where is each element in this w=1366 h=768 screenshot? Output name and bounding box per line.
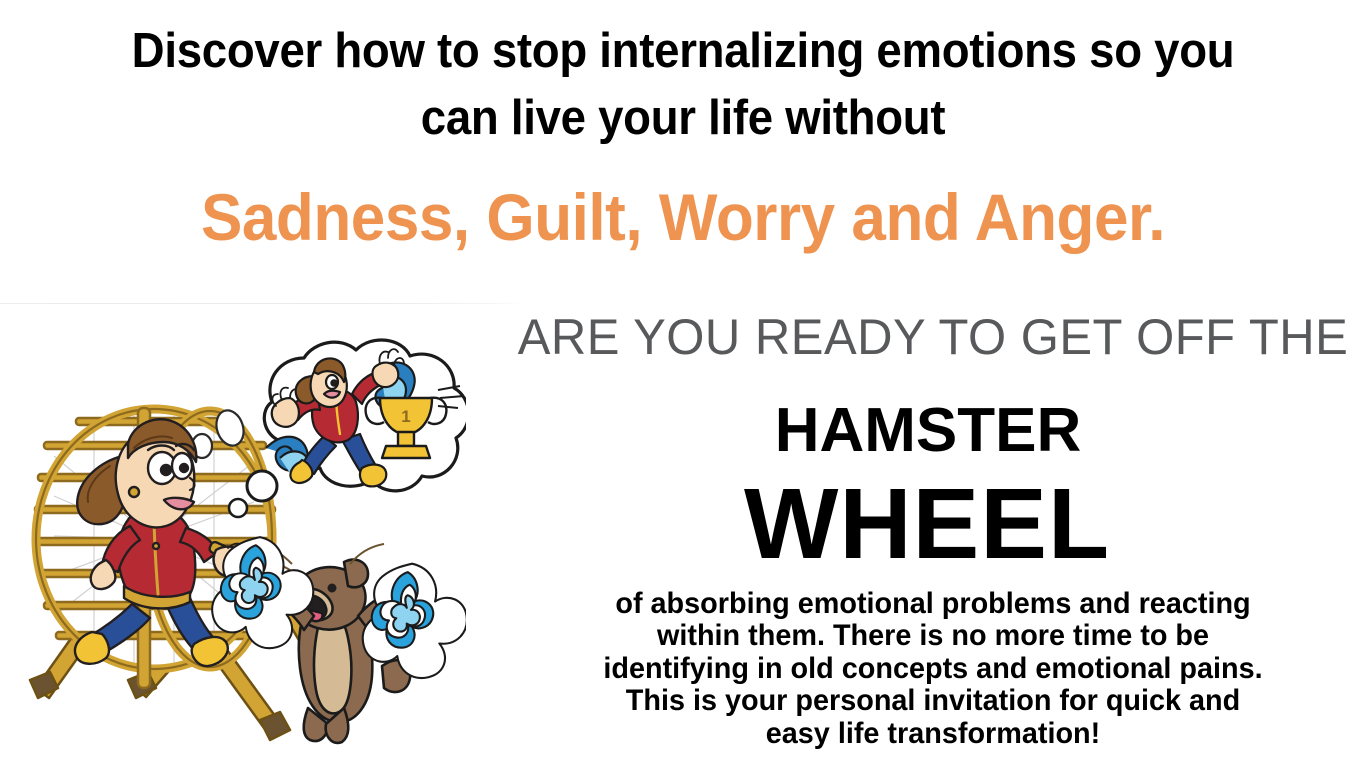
trophy-number-label: 1 [401, 407, 410, 426]
thought-bubble: 1 [229, 340, 466, 517]
body-copy-line-3: identifying in old concepts and emotiona… [517, 653, 1348, 685]
slide-root: Discover how to stop internalizing emoti… [0, 0, 1366, 768]
headline-line-1: Discover how to stop internalizing emoti… [48, 18, 1318, 85]
section-divider [0, 303, 521, 304]
headline-line-2: can live your life without [48, 85, 1318, 152]
body-copy-line-1: of absorbing emotional problems and reac… [517, 588, 1348, 620]
body-copy-line-4: This is your personal invitation for qui… [517, 685, 1348, 717]
right-text-column: ARE YOU READY TO GET OFF THE HAMSTER WHE… [500, 312, 1366, 750]
blue-pom-pom-right [363, 564, 466, 678]
body-copy-line-2: within them. There is no more time to be [517, 620, 1348, 652]
body-copy-line-5: easy life transformation! [517, 718, 1348, 750]
headline-block: Discover how to stop internalizing emoti… [0, 18, 1366, 256]
kicker-text: ARE YOU READY TO GET OFF THE [509, 312, 1358, 362]
hamster-wheel-illustration: 1 [14, 336, 466, 762]
body-copy: of absorbing emotional problems and reac… [517, 588, 1348, 750]
headline-accent: Sadness, Guilt, Worry and Anger. [41, 179, 1325, 256]
word-hamster: HAMSTER [490, 400, 1366, 462]
hamster-wheel-illustration-svg: 1 [14, 336, 466, 762]
word-wheel: WHEEL [488, 474, 1366, 574]
